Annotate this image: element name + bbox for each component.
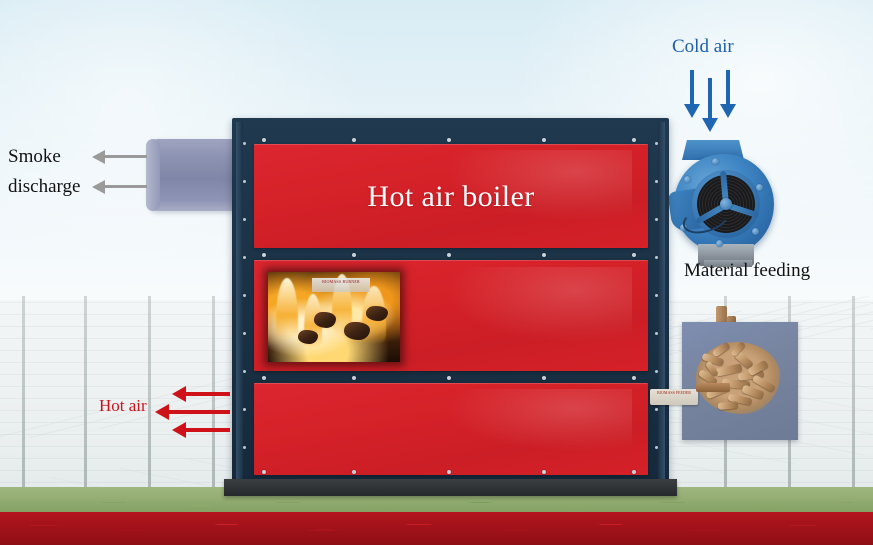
smoke-label-line1: Smoke xyxy=(8,142,80,172)
boiler-panel-lower xyxy=(254,383,648,475)
blower-bolt-top xyxy=(712,158,719,165)
boiler-title: Hot air boiler xyxy=(254,180,648,214)
smoke-arrow-top xyxy=(92,150,147,164)
centrifugal-blower-fan xyxy=(668,140,780,262)
blower-bolt-lower-right xyxy=(752,228,759,235)
panel-sheen-lower xyxy=(427,389,632,457)
smoke-pipe-cap xyxy=(146,139,160,211)
boiler-panel-upper: Hot air boiler xyxy=(254,144,648,248)
cold-air-arrow-right xyxy=(720,70,736,118)
ember-4 xyxy=(366,306,388,321)
material-feeding-label: Material feeding xyxy=(684,260,810,282)
ember-2 xyxy=(344,322,370,340)
blower-bolt-upper-left xyxy=(684,176,691,183)
smoke-discharge-label: Smoke discharge xyxy=(8,142,80,202)
hot-air-arrow-bottom xyxy=(172,422,230,438)
boiler-diagram-scene: Smoke discharge Cold air xyxy=(0,0,873,545)
boiler-base-plinth xyxy=(224,479,677,496)
ember-3 xyxy=(298,330,318,344)
biomass-pellets-panel xyxy=(682,322,798,440)
red-flower-bed xyxy=(0,512,873,545)
cold-air-arrow-left xyxy=(684,70,700,118)
combustion-viewport: BIOMASS BURNER xyxy=(268,272,400,362)
viewport-label: BIOMASS BURNER xyxy=(312,278,370,292)
smoke-label-line2: discharge xyxy=(8,172,80,202)
boiler-frame-left-edge xyxy=(236,122,243,479)
smoke-arrow-bottom xyxy=(92,180,147,194)
ember-1 xyxy=(314,312,336,328)
hot-air-arrow-top xyxy=(172,386,230,402)
hot-air-arrow-middle xyxy=(155,404,230,420)
boiler-frame-right-edge xyxy=(658,122,665,479)
panel-sheen-middle xyxy=(427,267,632,349)
feeder-badge: BIOMASS FEEDER xyxy=(650,389,698,405)
cold-air-arrow-middle xyxy=(702,78,718,134)
blower-bolt-upper-right xyxy=(756,184,763,191)
hot-air-label: Hot air xyxy=(99,396,147,416)
blower-bolt-bottom xyxy=(716,240,723,247)
cold-air-label: Cold air xyxy=(672,36,734,58)
feeder-tube xyxy=(696,383,730,392)
